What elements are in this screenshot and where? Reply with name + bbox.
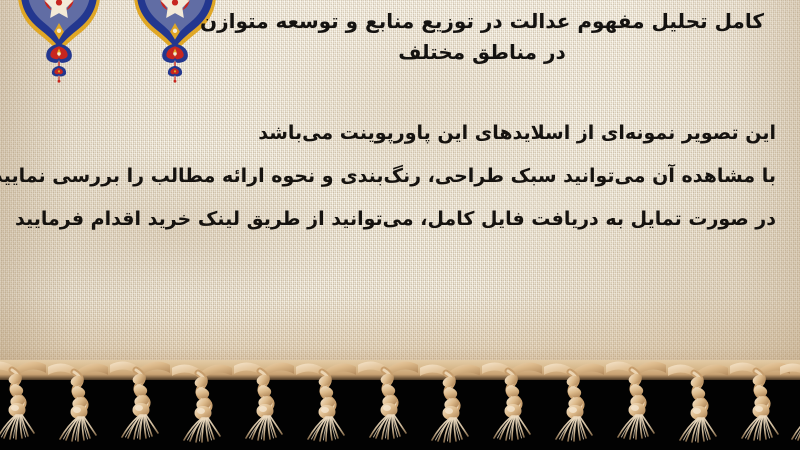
tassel-row-icon (0, 360, 800, 450)
tassel-item (778, 363, 800, 441)
tassel-item (108, 361, 172, 439)
tassel-item (170, 364, 234, 442)
body-line-2: با مشاهده آن می‌توانید سبک طراحی، رنگ‌بن… (24, 155, 776, 198)
tassel-item (604, 361, 668, 439)
tassel-item (728, 362, 792, 440)
title-line-2: در مناطق مختلف (182, 37, 782, 68)
tassel-item (232, 362, 296, 440)
slide-body: این تصویر نمونه‌ای از اسلایدهای این پاور… (24, 112, 776, 240)
tassel-list (0, 361, 800, 442)
tassel-item (542, 363, 606, 441)
tassel-item (666, 364, 730, 442)
body-line-1: این تصویر نمونه‌ای از اسلایدهای این پاور… (24, 112, 776, 155)
tassel-item (356, 361, 420, 439)
tassel-item (418, 364, 482, 442)
slide-title: کامل تحلیل مفهوم عدالت در توزیع منابع و … (182, 6, 782, 68)
carpet-tassel-fringe (0, 360, 800, 450)
slide-canvas: کامل تحلیل مفهوم عدالت در توزیع منابع و … (0, 0, 800, 450)
body-line-3: در صورت تمایل به دریافت فایل کامل، می‌تو… (24, 198, 776, 241)
tassel-item (0, 361, 48, 439)
tassel-item (480, 362, 544, 440)
tassel-item (46, 363, 110, 441)
title-line-1: کامل تحلیل مفهوم عدالت در توزیع منابع و … (182, 6, 782, 37)
tassel-item (294, 363, 358, 441)
